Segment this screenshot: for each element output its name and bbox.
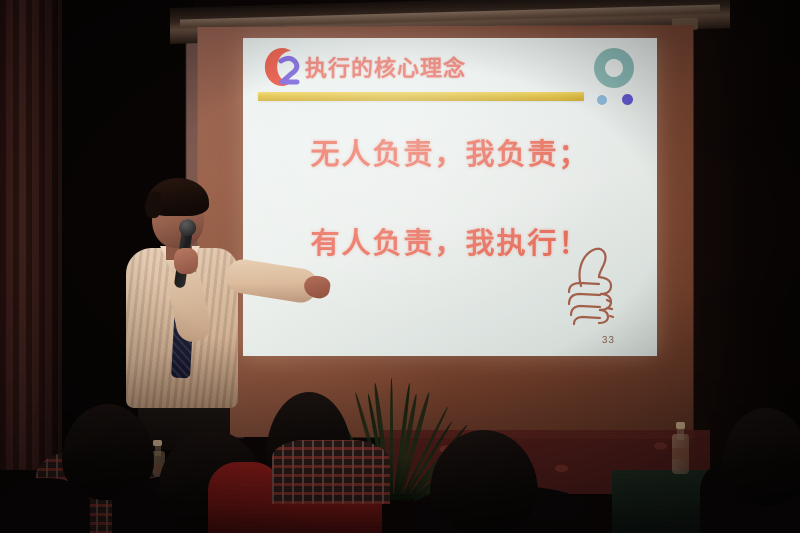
audience-member-3-shoulder: [208, 462, 282, 533]
blue-dot-icon: [597, 95, 607, 105]
teal-ring-icon: [594, 48, 634, 88]
plant-frond: [390, 378, 393, 500]
bottle-cap: [153, 440, 161, 446]
bottle-cap: [676, 422, 686, 429]
left-curtain: [0, 0, 62, 470]
slide-title-underline: [258, 92, 584, 101]
presenter-hair: [147, 178, 209, 216]
right-wall: [688, 0, 800, 470]
audience-member-3-scarf: [272, 440, 390, 504]
slide-title: 执行的核心理念: [305, 51, 466, 83]
thumbs-up-icon: [555, 242, 635, 328]
slide-body-line-1: 无人负责，我负责；: [243, 131, 657, 173]
bottle-neck: [677, 428, 684, 439]
purple-dot-icon: [622, 94, 633, 105]
water-bottle-right: [672, 422, 689, 474]
presentation-room-scene: 执行的核心理念 无人负责，我负责； 有人负责，我执行！: [0, 0, 800, 533]
bottle-neck: [155, 446, 161, 456]
audience-member-6: [0, 478, 90, 533]
slide-page-number: 33: [602, 335, 615, 346]
presenter-mic-hand: [174, 248, 198, 274]
o2-logo-icon: [257, 42, 309, 92]
bottle-label: [672, 448, 689, 459]
